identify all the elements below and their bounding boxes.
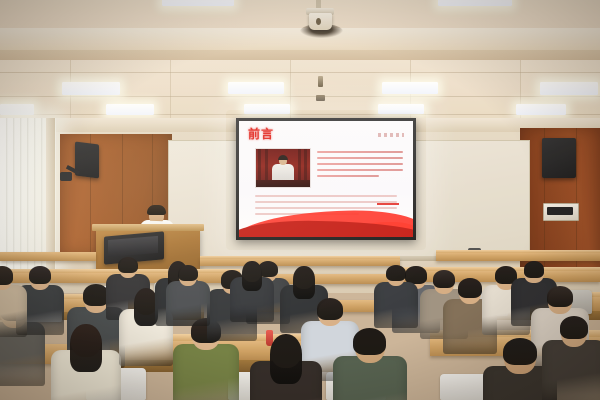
audience-member — [51, 326, 120, 398]
audience-member-torso — [374, 282, 419, 328]
audience-member-torso — [0, 285, 27, 336]
audience-member-hair — [524, 261, 545, 278]
audience-member-hair — [547, 286, 573, 307]
audience — [0, 0, 600, 400]
audience-member — [166, 266, 209, 311]
audience-member-hair — [242, 261, 262, 291]
audience-member — [250, 336, 322, 400]
audience-member-hair — [293, 266, 314, 299]
audience-member-hair — [0, 266, 13, 284]
audience-member-hair — [70, 324, 101, 373]
audience-member-hair — [270, 334, 302, 384]
audience-member-hair — [317, 298, 343, 320]
audience-member-hair — [178, 265, 198, 281]
audience-member-hair — [560, 316, 589, 339]
audience-member — [374, 266, 419, 312]
audience-member-torso — [166, 281, 209, 326]
audience-member — [230, 262, 273, 307]
audience-member — [0, 268, 27, 319]
audience-member-hair — [458, 278, 482, 298]
audience-member-hair — [386, 265, 406, 282]
audience-member-hair — [353, 328, 386, 355]
audience-member-torso — [542, 340, 600, 400]
audience-member-torso — [173, 344, 240, 400]
audience-member — [542, 318, 600, 383]
audience-member-hair — [118, 257, 138, 274]
audience-member-hair — [29, 266, 51, 284]
audience-member — [333, 330, 406, 400]
lecture-hall-photo: 前言 — [0, 0, 600, 400]
audience-member-hair — [503, 338, 537, 366]
